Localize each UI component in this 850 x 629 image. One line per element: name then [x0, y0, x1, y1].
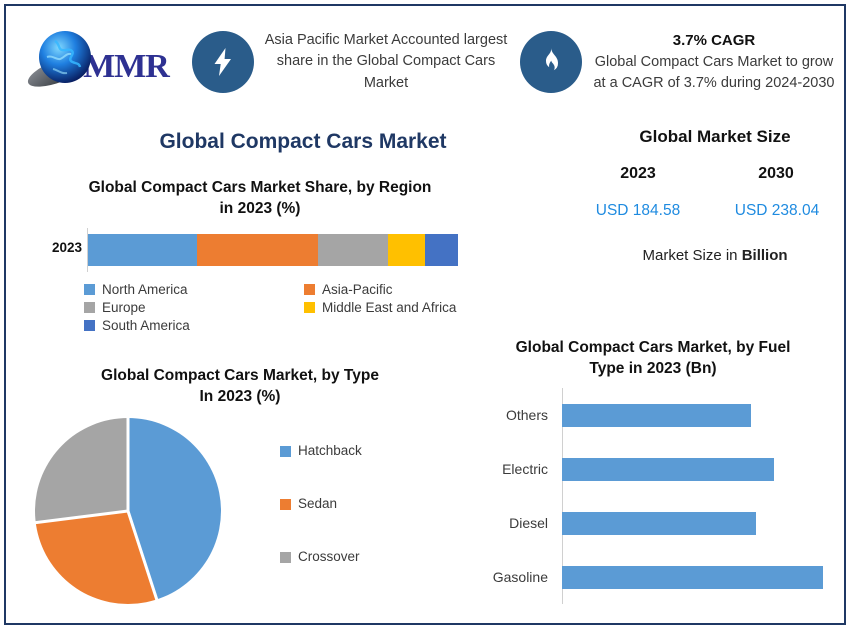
region-chart-title-line1: Global Compact Cars Market Share, by Reg… — [30, 178, 490, 199]
fuel-chart-title-line2: Type in 2023 (Bn) — [462, 359, 844, 380]
fuel-bar-diesel[interactable] — [562, 512, 756, 535]
fuel-bar-electric[interactable] — [562, 458, 774, 481]
type-pie-chart[interactable] — [35, 418, 221, 604]
market-size-unit-value: Billion — [742, 247, 788, 264]
fuel-bar-row: Diesel — [466, 496, 840, 550]
region-chart-title: Global Compact Cars Market Share, by Reg… — [30, 178, 490, 220]
market-size-unit-note: Market Size in Billion — [590, 247, 840, 264]
legend-item-south-america[interactable]: South America — [84, 318, 304, 333]
fuel-label-diesel: Diesel — [466, 515, 556, 531]
fuel-chart-title: Global Compact Cars Market, by Fuel Type… — [462, 338, 844, 380]
legend-swatch-icon — [280, 446, 291, 457]
legend-item-asia-pacific[interactable]: Asia-Pacific — [304, 282, 504, 297]
region-chart-title-line2: in 2023 (%) — [30, 199, 490, 220]
legend-label: Asia-Pacific — [322, 282, 393, 297]
pie-slice-divider — [127, 511, 159, 601]
region-segment-middle-east-and-africa[interactable] — [388, 234, 424, 266]
fuel-bar-others[interactable] — [562, 404, 751, 427]
fuel-label-electric: Electric — [466, 461, 556, 477]
region-segment-south-america[interactable] — [425, 234, 458, 266]
market-size-unit-prefix: Market Size in — [642, 247, 741, 264]
legend-label: South America — [102, 318, 190, 333]
legend-swatch-icon — [280, 499, 291, 510]
header-stat-asia-pacific-text: Asia Pacific Market Accounted largest sh… — [264, 30, 508, 93]
type-chart-legend: HatchbackSedanCrossover — [280, 443, 450, 602]
fuel-bar-row: Others — [466, 388, 840, 442]
fuel-bar-row: Electric — [466, 442, 840, 496]
fuel-label-gasoline: Gasoline — [466, 569, 556, 585]
legend-label: Sedan — [298, 496, 337, 511]
region-stacked-bar[interactable] — [88, 234, 458, 266]
bolt-icon — [192, 31, 254, 93]
header-stat-cagr-text: 3.7% CAGR Global Compact Cars Market to … — [592, 30, 836, 95]
region-segment-asia-pacific[interactable] — [197, 234, 318, 266]
fuel-bar-gasoline[interactable] — [562, 566, 823, 589]
region-segment-europe[interactable] — [318, 234, 388, 266]
header-cagr-headline: 3.7% CAGR — [592, 30, 836, 52]
legend-item-crossover[interactable]: Crossover — [280, 549, 450, 602]
legend-label: North America — [102, 282, 188, 297]
legend-swatch-icon — [84, 320, 95, 331]
flame-icon — [520, 31, 582, 93]
fuel-bar-chart: OthersElectricDieselGasoline — [466, 388, 840, 606]
region-chart-legend: North AmericaAsia-PacificEuropeMiddle Ea… — [84, 282, 504, 333]
legend-label: Crossover — [298, 549, 360, 564]
legend-label: Europe — [102, 300, 146, 315]
market-size-year-2023: 2023 — [592, 165, 684, 183]
pie-slice-divider — [35, 510, 129, 525]
brand-logo[interactable]: MMR — [8, 25, 186, 99]
type-chart-title-line2: In 2023 (%) — [40, 387, 440, 408]
legend-label: Hatchback — [298, 443, 362, 458]
legend-item-europe[interactable]: Europe — [84, 300, 304, 315]
market-size-value-2030: USD 238.04 — [715, 202, 839, 220]
header-cagr-body: Global Compact Cars Market to grow at a … — [593, 54, 834, 91]
legend-swatch-icon — [304, 302, 315, 313]
legend-swatch-icon — [84, 302, 95, 313]
market-size-title: Global Market Size — [590, 127, 840, 147]
region-axis-label: 2023 — [24, 240, 82, 255]
legend-label: Middle East and Africa — [322, 300, 456, 315]
legend-item-hatchback[interactable]: Hatchback — [280, 443, 450, 496]
legend-swatch-icon — [84, 284, 95, 295]
infographic-canvas: MMR Asia Pacific Market Accounted larges… — [0, 0, 850, 629]
legend-swatch-icon — [304, 284, 315, 295]
header-stat-asia-pacific: Asia Pacific Market Accounted largest sh… — [186, 30, 514, 93]
legend-item-sedan[interactable]: Sedan — [280, 496, 450, 549]
globe-icon — [25, 25, 99, 99]
type-chart-title-line1: Global Compact Cars Market, by Type — [40, 366, 440, 387]
region-segment-north-america[interactable] — [88, 234, 197, 266]
legend-item-north-america[interactable]: North America — [84, 282, 304, 297]
fuel-bar-row: Gasoline — [466, 550, 840, 604]
header-stat-cagr: 3.7% CAGR Global Compact Cars Market to … — [514, 30, 842, 95]
fuel-chart-title-line1: Global Compact Cars Market, by Fuel — [462, 338, 844, 359]
market-size-year-2030: 2030 — [726, 165, 826, 183]
region-stacked-bar-chart: 2023 — [24, 228, 474, 276]
market-size-value-2023: USD 184.58 — [578, 202, 698, 220]
legend-item-middle-east-and-africa[interactable]: Middle East and Africa — [304, 300, 504, 315]
pie-slice-divider — [127, 417, 130, 511]
fuel-label-others: Others — [466, 407, 556, 423]
header-bar: MMR Asia Pacific Market Accounted larges… — [8, 8, 842, 116]
legend-swatch-icon — [280, 552, 291, 563]
type-chart-title: Global Compact Cars Market, by Type In 2… — [40, 366, 440, 408]
page-title: Global Compact Cars Market — [18, 130, 588, 154]
